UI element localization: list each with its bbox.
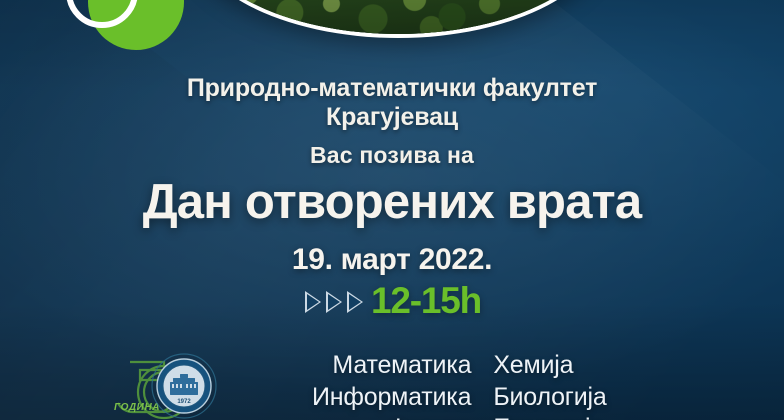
- subject-item: Физика: [389, 413, 472, 420]
- subject-item: Информатика: [312, 382, 471, 414]
- open-day-poster: Природно-математички факултет Крагујевац…: [0, 0, 784, 420]
- campus-photo-overlay: [190, 0, 606, 34]
- faculty-name-line1: Природно-математички факултет: [187, 74, 597, 102]
- faculty-name-line2: Крагујевац: [0, 103, 784, 132]
- subjects-column-left: Математика Информатика Физика: [312, 350, 471, 420]
- subject-item: Математика: [332, 350, 471, 382]
- arrow-group: [303, 289, 364, 315]
- faculty-name: Природно-математички факултет Крагујевац: [0, 74, 784, 133]
- subject-item: Хемија: [493, 350, 573, 382]
- event-title: Дан отворених врата: [0, 178, 784, 227]
- event-time-row: 12-15h: [0, 282, 784, 319]
- university-seal: 1972: [150, 352, 218, 420]
- subject-item: Екологија: [493, 413, 604, 420]
- triangle-right-icon: [324, 289, 343, 315]
- subjects-column-right: Хемија Биологија Екологија: [493, 350, 606, 420]
- subjects-list: Математика Информатика Физика Хемија Био…: [312, 350, 607, 420]
- triangle-right-icon: [303, 289, 322, 315]
- event-date: 19. март 2022.: [0, 243, 784, 277]
- campus-photo-circle: [186, 0, 610, 38]
- event-time: 12-15h: [371, 282, 481, 319]
- subject-item: Биологија: [493, 382, 606, 414]
- triangle-right-icon: [345, 289, 364, 315]
- seal-year: 1972: [177, 399, 191, 405]
- invitation-text: Вас позива на: [0, 142, 784, 169]
